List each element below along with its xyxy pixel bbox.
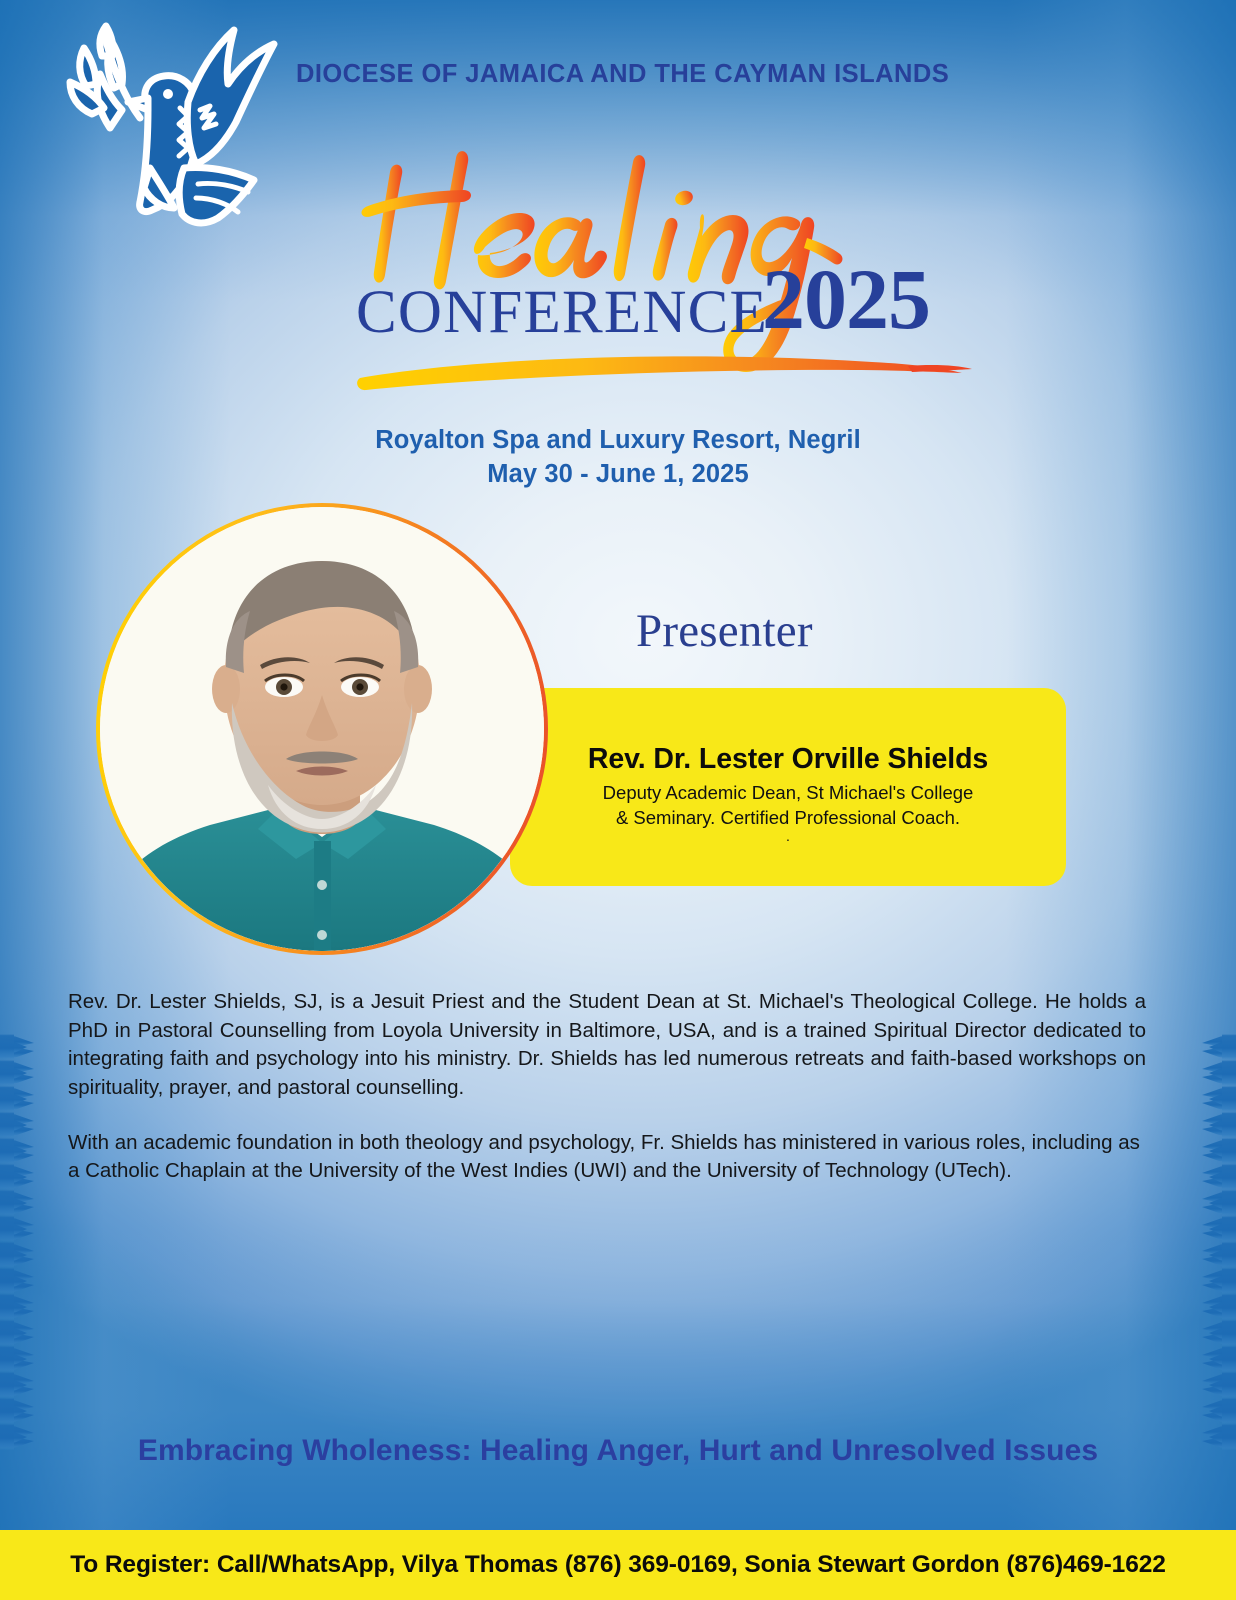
- registration-text: To Register: Call/WhatsApp, Vilya Thomas…: [70, 1551, 1166, 1579]
- biography: Rev. Dr. Lester Shields, SJ, is a Jesuit…: [68, 988, 1146, 1186]
- venue-text: Royalton Spa and Luxury Resort, Negril: [375, 426, 861, 454]
- registration-bar[interactable]: To Register: Call/WhatsApp, Vilya Thomas…: [0, 1530, 1236, 1600]
- presenter-label: Presenter: [636, 604, 813, 658]
- right-border-ornament: [1178, 1030, 1236, 1450]
- presenter-photo-ring: [96, 503, 548, 955]
- flyer-poster: DIOCESE OF JAMAICA AND THE CAYMAN ISLAND…: [0, 0, 1236, 1600]
- conference-theme: Embracing Wholeness: Healing Anger, Hurt…: [0, 1434, 1236, 1468]
- dove-icon: [48, 18, 298, 233]
- left-border-ornament: [0, 1030, 58, 1450]
- presenter-title-line2: & Seminary. Certified Professional Coach…: [616, 807, 960, 828]
- presenter-photo: [100, 507, 544, 951]
- presenter-title: Deputy Academic Dean, St Michael's Colle…: [510, 781, 1066, 831]
- presenter-name-card: Rev. Dr. Lester Orville Shields Deputy A…: [510, 688, 1066, 886]
- event-dates: May 30 - June 1, 2025: [0, 458, 1236, 492]
- conference-wordmark: CONFERENCE: [356, 279, 768, 346]
- presenter-name: Rev. Dr. Lester Orville Shields: [510, 743, 1066, 776]
- presenter-title-line1: Deputy Academic Dean, St Michael's Colle…: [603, 782, 974, 803]
- bio-paragraph-1: Rev. Dr. Lester Shields, SJ, is a Jesuit…: [68, 988, 1146, 1103]
- conference-logo: CONFERENCE 2025: [352, 150, 992, 395]
- bio-paragraph-2: With an academic foundation in both theo…: [68, 1129, 1146, 1186]
- diocese-title: DIOCESE OF JAMAICA AND THE CAYMAN ISLAND…: [296, 60, 949, 89]
- event-details: Royalton Spa and Luxury Resort, Negril M…: [0, 424, 1236, 492]
- presenter-trailing-dot: .: [510, 828, 1066, 844]
- year-wordmark: 2025: [762, 251, 930, 347]
